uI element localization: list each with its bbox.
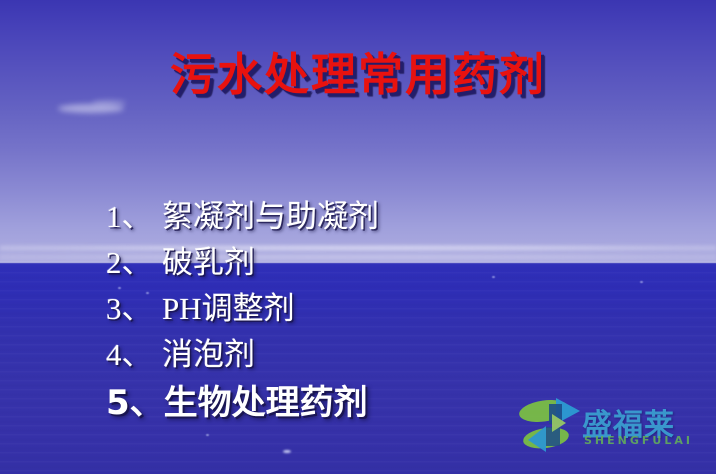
watermark-latin-text: SHENGFULAI bbox=[584, 434, 693, 447]
list-item-label: PH调整剂 bbox=[162, 283, 295, 328]
list-item: 5、 生物处理药剂 bbox=[106, 375, 586, 421]
list-item: 3、 PH调整剂 bbox=[106, 283, 586, 329]
list-item-number: 5、 bbox=[106, 375, 164, 424]
slide-title: 污水处理常用药剂 bbox=[0, 38, 716, 103]
sea-glint bbox=[283, 450, 291, 453]
presentation-slide: 污水处理常用药剂 1、 絮凝剂与助凝剂 2、 破乳剂 3、 PH调整剂 4、 消… bbox=[0, 0, 716, 474]
sea-speck bbox=[206, 434, 209, 436]
list-item-label: 絮凝剂与助凝剂 bbox=[162, 191, 379, 236]
list-item-label: 破乳剂 bbox=[162, 237, 255, 282]
list-item: 2、 破乳剂 bbox=[106, 237, 586, 283]
list-item: 4、 消泡剂 bbox=[106, 329, 586, 375]
watermark: 盛福莱 SHENGFULAI bbox=[516, 392, 706, 462]
list-item-number: 1、 bbox=[106, 191, 162, 236]
list-item-number: 2、 bbox=[106, 237, 162, 282]
list-item-label: 生物处理药剂 bbox=[164, 375, 368, 424]
list-item-number: 3、 bbox=[106, 283, 162, 328]
agenda-list: 1、 絮凝剂与助凝剂 2、 破乳剂 3、 PH调整剂 4、 消泡剂 5、 生物处… bbox=[106, 191, 586, 421]
list-item-number: 4、 bbox=[106, 329, 162, 374]
list-item: 1、 絮凝剂与助凝剂 bbox=[106, 191, 586, 237]
sea-speck bbox=[640, 281, 643, 283]
shengfulai-swirl-logo-icon bbox=[516, 394, 586, 456]
list-item-label: 消泡剂 bbox=[162, 329, 255, 374]
